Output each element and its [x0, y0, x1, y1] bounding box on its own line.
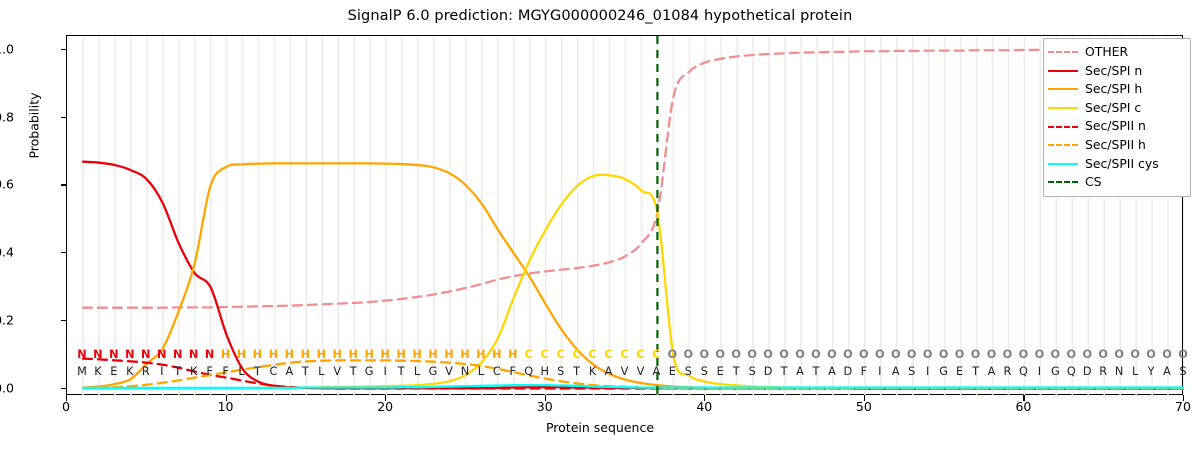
region-label: H: [412, 349, 421, 360]
x-tick-label: 10: [218, 399, 234, 414]
region-label: O: [891, 349, 901, 360]
x-tick-mark: [1183, 395, 1184, 401]
region-label: O: [1162, 349, 1172, 360]
residue-label: N: [461, 366, 469, 377]
residue-label: V: [621, 366, 629, 377]
region-label: H: [317, 349, 326, 360]
region-label: N: [93, 349, 102, 360]
legend-line-swatch: [1048, 144, 1078, 146]
residue-label: S: [685, 366, 692, 377]
residue-label: T: [398, 366, 405, 377]
region-label: H: [285, 349, 294, 360]
region-label: O: [1130, 349, 1140, 360]
residue-label: I: [1038, 366, 1041, 377]
legend-line-swatch: [1048, 70, 1078, 72]
x-tick-label: 0: [62, 399, 70, 414]
y-tick-mark: [61, 49, 67, 50]
y-tick-label: 0.4: [0, 245, 14, 260]
residue-label: R: [1099, 366, 1107, 377]
y-tick-label: 1.0: [0, 41, 14, 56]
residue-label: G: [365, 366, 374, 377]
region-label: H: [333, 349, 342, 360]
residue-label: F: [222, 366, 229, 377]
residue-label: T: [972, 366, 979, 377]
region-label: C: [604, 349, 612, 360]
legend-label: OTHER: [1085, 46, 1128, 58]
residue-label: F: [861, 366, 868, 377]
legend-line-swatch: [1048, 181, 1078, 183]
residue-label: T: [254, 366, 261, 377]
residue-label: M: [77, 366, 87, 377]
residue-label: D: [764, 366, 773, 377]
legend-line-swatch: [1048, 88, 1078, 90]
residue-label: Q: [1067, 366, 1076, 377]
residue-label: C: [269, 366, 277, 377]
plot-area: [66, 35, 1183, 395]
residue-label: G: [1051, 366, 1060, 377]
residue-label: F: [510, 366, 517, 377]
region-label: O: [779, 349, 789, 360]
residue-label: D: [844, 366, 853, 377]
legend-label: Sec/SPII n: [1085, 120, 1146, 132]
region-label: N: [77, 349, 86, 360]
residue-label: N: [1115, 366, 1123, 377]
residue-label: G: [939, 366, 948, 377]
legend-item: Sec/SPI n: [1048, 62, 1185, 81]
region-label: O: [923, 349, 933, 360]
x-tick-mark: [66, 395, 67, 401]
residue-label: F: [206, 366, 213, 377]
region-label: O: [1098, 349, 1108, 360]
region-label: C: [652, 349, 660, 360]
region-label: N: [141, 349, 150, 360]
residue-label: S: [1179, 366, 1186, 377]
region-label: C: [572, 349, 580, 360]
residue-label: S: [908, 366, 915, 377]
legend-label: Sec/SPI n: [1085, 65, 1142, 77]
residue-label: L: [238, 366, 244, 377]
residue-label: R: [142, 366, 150, 377]
region-label: O: [1066, 349, 1076, 360]
legend-label: Sec/SPII cys: [1085, 158, 1159, 170]
region-label: C: [588, 349, 596, 360]
region-label: O: [859, 349, 869, 360]
x-tick-label: 20: [377, 399, 393, 414]
x-tick-mark: [704, 395, 705, 401]
region-label: H: [269, 349, 278, 360]
residue-label: G: [429, 366, 438, 377]
region-label: H: [301, 349, 310, 360]
region-label: H: [508, 349, 517, 360]
data-curves: [67, 36, 1184, 396]
residue-label: I: [926, 366, 929, 377]
region-label: O: [939, 349, 949, 360]
legend-item: Sec/SPI h: [1048, 80, 1185, 99]
residue-label: V: [637, 366, 645, 377]
residue-label: Y: [1148, 366, 1155, 377]
residue-label: R: [1004, 366, 1012, 377]
x-tick-label: 30: [537, 399, 553, 414]
region-label: H: [364, 349, 373, 360]
region-label: H: [444, 349, 453, 360]
legend-line-swatch: [1048, 163, 1078, 165]
region-label: O: [715, 349, 725, 360]
residue-label: L: [1132, 366, 1138, 377]
residue-label: S: [701, 366, 708, 377]
region-label: O: [827, 349, 837, 360]
residue-label: E: [669, 366, 676, 377]
y-axis-label: Probability: [27, 46, 42, 206]
x-tick-label: 60: [1015, 399, 1031, 414]
residue-label: E: [717, 366, 724, 377]
region-label: C: [620, 349, 628, 360]
residue-label: L: [414, 366, 420, 377]
residue-label: T: [733, 366, 740, 377]
legend-label: Sec/SPI c: [1085, 102, 1141, 114]
residue-label: I: [160, 366, 163, 377]
residue-label: K: [126, 366, 133, 377]
residue-label: D: [1083, 366, 1092, 377]
x-tick-mark: [545, 395, 546, 401]
residue-label: T: [302, 366, 309, 377]
legend-item: Sec/SPI c: [1048, 99, 1185, 118]
residue-label: L: [318, 366, 324, 377]
region-label: O: [1114, 349, 1124, 360]
region-label: H: [396, 349, 405, 360]
residue-label: I: [878, 366, 881, 377]
residue-label: L: [478, 366, 484, 377]
region-label: N: [109, 349, 118, 360]
residue-label: S: [557, 366, 564, 377]
y-tick-mark: [61, 252, 67, 253]
residue-label: V: [333, 366, 341, 377]
residue-label: T: [350, 366, 357, 377]
legend-item: Sec/SPII cys: [1048, 155, 1185, 174]
region-label: O: [1082, 349, 1092, 360]
region-label: H: [428, 349, 437, 360]
x-tick-mark: [385, 395, 386, 401]
residue-label: A: [796, 366, 804, 377]
residue-label: K: [190, 366, 197, 377]
figure-title: SignalP 6.0 prediction: MGYG000000246_01…: [0, 8, 1200, 24]
x-tick-mark: [226, 395, 227, 401]
region-label: O: [763, 349, 773, 360]
region-label: H: [460, 349, 469, 360]
legend-item: CS: [1048, 173, 1185, 192]
y-tick-label: 0.0: [0, 381, 14, 396]
residue-label: T: [174, 366, 181, 377]
x-tick-mark: [1023, 395, 1024, 401]
region-label: O: [1003, 349, 1013, 360]
region-label: N: [205, 349, 214, 360]
legend-item: Sec/SPII n: [1048, 117, 1185, 136]
region-label: O: [907, 349, 917, 360]
region-label: O: [684, 349, 694, 360]
residue-label: V: [445, 366, 453, 377]
y-tick-mark: [61, 320, 67, 321]
region-label: H: [492, 349, 501, 360]
region-label: H: [476, 349, 485, 360]
region-label: O: [1178, 349, 1188, 360]
x-tick-label: 40: [696, 399, 712, 414]
region-label: N: [173, 349, 182, 360]
y-tick-label: 0.2: [0, 313, 14, 328]
residue-label: E: [956, 366, 963, 377]
residue-label: A: [653, 366, 661, 377]
legend-item: Sec/SPII h: [1048, 136, 1185, 155]
region-label: H: [237, 349, 246, 360]
region-label: C: [525, 349, 533, 360]
region-label: O: [1019, 349, 1029, 360]
residue-label: C: [493, 366, 501, 377]
legend-line-swatch: [1048, 107, 1078, 109]
residue-label: A: [1163, 366, 1171, 377]
region-label: O: [987, 349, 997, 360]
residue-label: K: [94, 366, 101, 377]
region-label: C: [541, 349, 549, 360]
region-label: N: [189, 349, 198, 360]
region-label: N: [125, 349, 134, 360]
legend-line-swatch: [1048, 51, 1078, 53]
region-label: O: [731, 349, 741, 360]
region-label: O: [1035, 349, 1045, 360]
residue-label: K: [589, 366, 596, 377]
legend: OTHERSec/SPI nSec/SPI hSec/SPI cSec/SPII…: [1043, 38, 1191, 197]
region-label: H: [348, 349, 357, 360]
signalp-plot-figure: SignalP 6.0 prediction: MGYG000000246_01…: [0, 0, 1200, 450]
region-label: O: [1051, 349, 1061, 360]
region-label: N: [157, 349, 166, 360]
x-tick-label: 70: [1175, 399, 1191, 414]
legend-line-swatch: [1048, 126, 1078, 128]
region-label: O: [811, 349, 821, 360]
y-tick-mark: [61, 184, 67, 185]
residue-label: A: [988, 366, 996, 377]
region-label: O: [747, 349, 757, 360]
legend-label: CS: [1085, 176, 1102, 188]
residue-label: A: [605, 366, 613, 377]
residue-label: A: [286, 366, 294, 377]
residue-label: Q: [1019, 366, 1028, 377]
region-label: O: [971, 349, 981, 360]
y-tick-label: 0.8: [0, 109, 14, 124]
region-label: O: [955, 349, 965, 360]
x-tick-mark: [864, 395, 865, 401]
residue-label: T: [813, 366, 820, 377]
region-label: C: [636, 349, 644, 360]
region-label: C: [557, 349, 565, 360]
legend-label: Sec/SPII h: [1085, 139, 1146, 151]
legend-label: Sec/SPI h: [1085, 83, 1142, 95]
residue-label: E: [110, 366, 117, 377]
region-label: H: [253, 349, 262, 360]
region-label: H: [221, 349, 230, 360]
residue-label: A: [828, 366, 836, 377]
region-label: O: [843, 349, 853, 360]
region-label: O: [875, 349, 885, 360]
residue-label: Q: [524, 366, 533, 377]
x-tick-label: 50: [856, 399, 872, 414]
residue-label: S: [749, 366, 756, 377]
x-axis-label: Protein sequence: [0, 420, 1200, 435]
residue-label: H: [540, 366, 549, 377]
region-label: O: [699, 349, 709, 360]
y-tick-mark: [61, 117, 67, 118]
residue-label: I: [383, 366, 386, 377]
residue-label: A: [892, 366, 900, 377]
legend-item: OTHER: [1048, 43, 1185, 62]
y-tick-mark: [61, 388, 67, 389]
residue-label: T: [573, 366, 580, 377]
region-label: O: [795, 349, 805, 360]
residue-label: T: [781, 366, 788, 377]
region-label: H: [380, 349, 389, 360]
region-label: O: [1146, 349, 1156, 360]
region-label: O: [668, 349, 678, 360]
y-tick-label: 0.6: [0, 177, 14, 192]
